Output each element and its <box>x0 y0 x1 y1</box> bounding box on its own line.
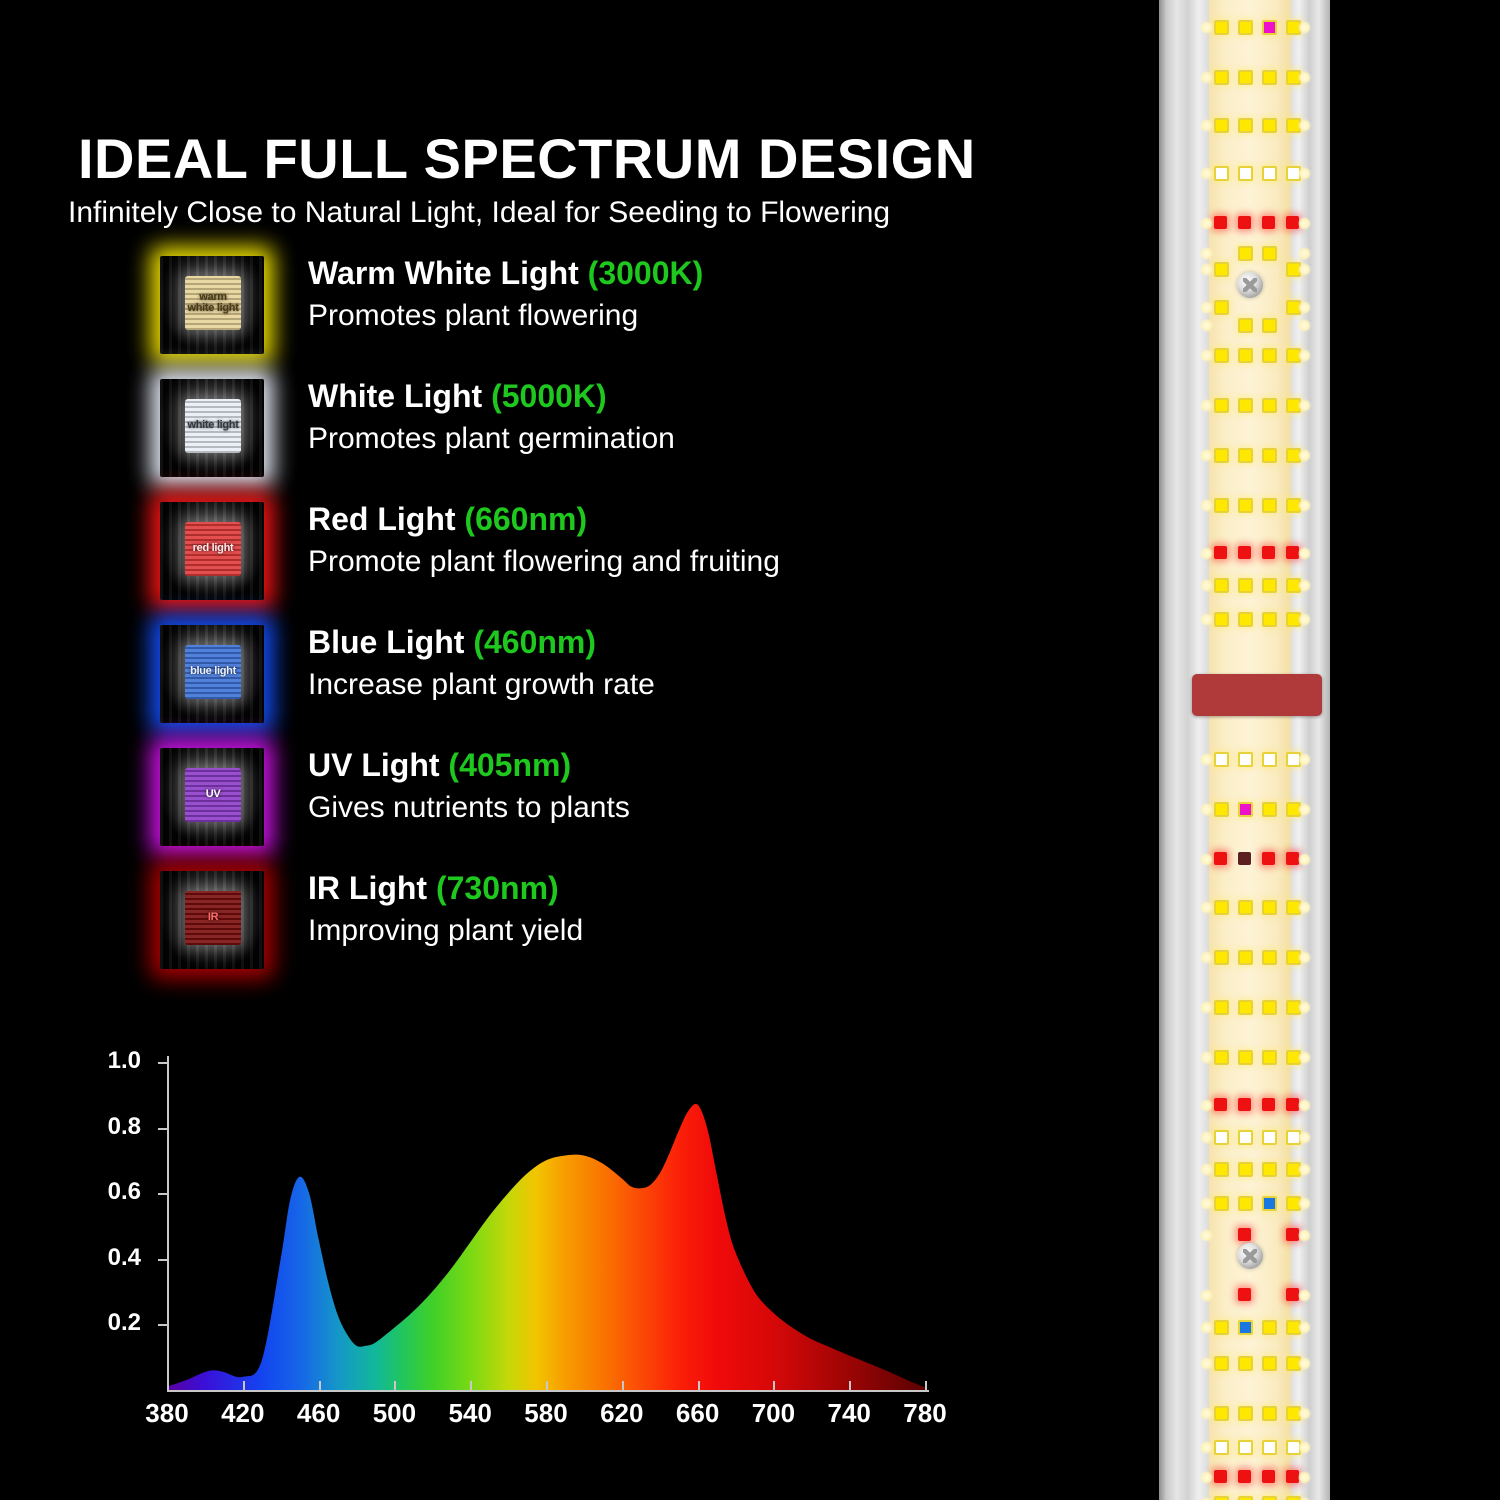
x-tick <box>546 1381 548 1390</box>
feature-text: Warm White Light (3000K)Promotes plant f… <box>308 252 703 338</box>
led-diode <box>1238 1496 1253 1500</box>
chip-die: IR <box>185 891 241 946</box>
edge-light-glow <box>1200 1229 1213 1242</box>
led-diode <box>1214 20 1229 35</box>
feature-text: IR Light (730nm)Improving plant yield <box>308 867 583 953</box>
edge-light-glow <box>1298 901 1311 914</box>
power-connector <box>1192 674 1322 716</box>
led-diode <box>1214 1196 1229 1211</box>
led-diode <box>1214 900 1229 915</box>
led-diode <box>1262 1356 1277 1371</box>
led-diode <box>1238 118 1253 133</box>
led-diode <box>1238 398 1253 413</box>
feature-name-label: Blue Light <box>308 624 464 660</box>
led-diode <box>1238 70 1253 85</box>
x-axis-tick-label: 660 <box>676 1398 719 1429</box>
led-diode <box>1238 498 1253 513</box>
led-diode <box>1214 1162 1229 1177</box>
edge-light-glow <box>1200 349 1213 362</box>
x-tick <box>622 1381 624 1390</box>
edge-light-glow <box>1298 853 1311 866</box>
y-axis <box>167 1056 169 1392</box>
chip-body: red light <box>160 502 264 600</box>
led-diode <box>1214 166 1229 181</box>
edge-light-glow <box>1200 247 1213 260</box>
edge-light-glow <box>1200 901 1213 914</box>
led-diode <box>1262 612 1277 627</box>
edge-light-glow <box>1200 1131 1213 1144</box>
uv-led-chip-icon: UV <box>160 748 264 846</box>
edge-light-glow <box>1298 1131 1311 1144</box>
edge-light-glow <box>1200 499 1213 512</box>
led-diode <box>1262 1050 1277 1065</box>
edge-light-glow <box>1298 1441 1311 1454</box>
edge-light-glow <box>1298 1357 1311 1370</box>
edge-light-glow <box>1298 1163 1311 1176</box>
led-diode <box>1262 348 1277 363</box>
led-diode <box>1262 166 1277 181</box>
chip-die-label: warm white light <box>185 292 241 314</box>
edge-light-glow <box>1298 613 1311 626</box>
x-axis-tick-label: 500 <box>373 1398 416 1429</box>
edge-light-glow <box>1200 1471 1213 1484</box>
chip-body: IR <box>160 871 264 969</box>
y-tick <box>158 1259 167 1261</box>
x-axis-tick-label: 540 <box>448 1398 491 1429</box>
x-tick <box>167 1381 169 1390</box>
edge-light-glow <box>1298 951 1311 964</box>
led-diode <box>1214 262 1229 277</box>
feature-name: Red Light (660nm) <box>308 498 780 540</box>
feature-row: red lightRed Light (660nm)Promote plant … <box>0 498 1120 621</box>
x-axis-tick-label: 460 <box>297 1398 340 1429</box>
led-diode <box>1238 1440 1253 1455</box>
y-tick <box>158 1128 167 1130</box>
feature-spec-value: (5000K) <box>491 378 607 414</box>
led-diode <box>1238 1050 1253 1065</box>
led-diode <box>1238 802 1253 817</box>
edge-light-glow <box>1200 753 1213 766</box>
led-diode <box>1214 398 1229 413</box>
feature-text: Red Light (660nm)Promote plant flowering… <box>308 498 780 584</box>
led-diode <box>1238 1470 1251 1483</box>
edge-light-glow <box>1200 167 1213 180</box>
led-diode <box>1238 752 1253 767</box>
x-axis-tick-label: 620 <box>600 1398 643 1429</box>
led-diode <box>1262 1496 1277 1500</box>
y-axis-tick-label: 1.0 <box>81 1047 141 1075</box>
y-axis-tick-label: 0.4 <box>81 1244 141 1272</box>
led-diode <box>1238 246 1253 261</box>
led-diode <box>1262 1406 1277 1421</box>
feature-row: UVUV Light (405nm)Gives nutrients to pla… <box>0 744 1120 867</box>
feature-name-label: White Light <box>308 378 482 414</box>
led-diode <box>1214 1098 1227 1111</box>
edge-light-glow <box>1200 1357 1213 1370</box>
x-tick <box>773 1381 775 1390</box>
led-diode <box>1214 70 1229 85</box>
led-diode <box>1262 498 1277 513</box>
led-diode <box>1214 612 1229 627</box>
led-diode <box>1214 1000 1229 1015</box>
edge-light-glow <box>1200 217 1213 230</box>
mounting-screw <box>1237 1243 1263 1269</box>
led-diode <box>1238 612 1253 627</box>
feature-description: Promote plant flowering and fruiting <box>308 540 780 584</box>
led-diode <box>1262 852 1275 865</box>
x-axis-tick-label: 420 <box>221 1398 264 1429</box>
edge-light-glow <box>1200 119 1213 132</box>
led-diode <box>1262 1162 1277 1177</box>
feature-row: blue lightBlue Light (460nm)Increase pla… <box>0 621 1120 744</box>
feature-text: Blue Light (460nm)Increase plant growth … <box>308 621 655 707</box>
led-diode <box>1238 20 1253 35</box>
edge-light-glow <box>1200 613 1213 626</box>
x-tick <box>925 1381 927 1390</box>
led-diode <box>1214 216 1227 229</box>
edge-light-glow <box>1298 547 1311 560</box>
edge-light-glow <box>1298 319 1311 332</box>
feature-name: IR Light (730nm) <box>308 867 583 909</box>
chip-die-label: blue light <box>190 666 236 677</box>
led-diode <box>1214 802 1229 817</box>
led-diode <box>1262 70 1277 85</box>
led-grow-light-bar <box>1152 0 1328 1500</box>
led-diode <box>1262 546 1275 559</box>
page-subtitle: Infinitely Close to Natural Light, Ideal… <box>68 196 890 230</box>
led-diode <box>1262 1000 1277 1015</box>
feature-name: White Light (5000K) <box>308 375 675 417</box>
edge-light-glow <box>1298 1407 1311 1420</box>
feature-description: Increase plant growth rate <box>308 663 655 707</box>
y-tick <box>158 1062 167 1064</box>
edge-light-glow <box>1298 449 1311 462</box>
led-diode <box>1262 448 1277 463</box>
edge-light-glow <box>1298 499 1311 512</box>
led-diode <box>1214 1320 1229 1335</box>
led-diode <box>1214 1130 1229 1145</box>
led-diode <box>1214 852 1227 865</box>
x-tick <box>698 1381 700 1390</box>
edge-light-glow <box>1200 1163 1213 1176</box>
feature-list: warm white lightWarm White Light (3000K)… <box>0 252 1120 990</box>
led-diode <box>1214 118 1229 133</box>
x-tick <box>470 1381 472 1390</box>
feature-spec-value: (730nm) <box>436 870 559 906</box>
edge-light-glow <box>1200 1099 1213 1112</box>
blue-led-chip-icon: blue light <box>160 625 264 723</box>
led-diode <box>1238 1320 1253 1335</box>
y-tick <box>158 1193 167 1195</box>
feature-name: UV Light (405nm) <box>308 744 630 786</box>
led-diode <box>1238 216 1251 229</box>
y-axis-tick-label: 0.6 <box>81 1178 141 1206</box>
led-diode <box>1262 118 1277 133</box>
chip-die-label: red light <box>193 543 234 554</box>
y-axis-tick-label: 0.8 <box>81 1113 141 1141</box>
feature-text: UV Light (405nm)Gives nutrients to plant… <box>308 744 630 830</box>
led-diode <box>1214 498 1229 513</box>
led-diode <box>1262 752 1277 767</box>
feature-name-label: IR Light <box>308 870 427 906</box>
led-diode <box>1262 1470 1275 1483</box>
edge-light-glow <box>1298 1051 1311 1064</box>
chip-die-label: IR <box>208 912 218 923</box>
led-diode <box>1262 1098 1275 1111</box>
edge-light-glow <box>1200 1197 1213 1210</box>
chip-body: warm white light <box>160 256 264 354</box>
edge-light-glow <box>1200 263 1213 276</box>
led-diode <box>1238 448 1253 463</box>
led-diode <box>1238 1288 1251 1301</box>
led-diode <box>1214 752 1229 767</box>
y-tick <box>158 1324 167 1326</box>
edge-light-glow <box>1298 1471 1311 1484</box>
led-diode <box>1262 20 1277 35</box>
x-tick <box>394 1381 396 1390</box>
edge-light-glow <box>1298 301 1311 314</box>
x-axis-tick-label: 580 <box>524 1398 567 1429</box>
edge-light-glow <box>1298 1001 1311 1014</box>
feature-spec-value: (660nm) <box>464 501 587 537</box>
x-axis-tick-label: 740 <box>827 1398 870 1429</box>
edge-light-glow <box>1200 449 1213 462</box>
feature-name: Warm White Light (3000K) <box>308 252 703 294</box>
led-diode <box>1214 1496 1229 1500</box>
led-diode <box>1238 852 1251 865</box>
edge-light-glow <box>1298 167 1311 180</box>
feature-name: Blue Light (460nm) <box>308 621 655 663</box>
led-diode <box>1262 1196 1277 1211</box>
led-diode <box>1238 900 1253 915</box>
edge-light-glow <box>1298 1289 1311 1302</box>
led-diode <box>1262 246 1277 261</box>
chip-body: white light <box>160 379 264 477</box>
edge-light-glow <box>1200 1441 1213 1454</box>
edge-light-glow <box>1200 803 1213 816</box>
x-tick <box>319 1381 321 1390</box>
edge-light-glow <box>1298 217 1311 230</box>
led-diode <box>1214 1406 1229 1421</box>
chip-die: blue light <box>185 645 241 700</box>
led-diode <box>1214 448 1229 463</box>
feature-spec-value: (405nm) <box>448 747 571 783</box>
feature-row: IRIR Light (730nm)Improving plant yield <box>0 867 1120 990</box>
feature-row: warm white lightWarm White Light (3000K)… <box>0 252 1120 375</box>
edge-light-glow <box>1200 301 1213 314</box>
edge-light-glow <box>1200 547 1213 560</box>
led-diode <box>1238 1000 1253 1015</box>
edge-light-glow <box>1298 119 1311 132</box>
mounting-screw <box>1237 272 1263 298</box>
led-diode <box>1238 578 1253 593</box>
led-diode <box>1238 348 1253 363</box>
feature-name-label: Warm White Light <box>308 255 579 291</box>
feature-name-label: UV Light <box>308 747 440 783</box>
page-title: IDEAL FULL SPECTRUM DESIGN <box>78 126 976 191</box>
feature-description: Promotes plant germination <box>308 417 675 461</box>
led-diode <box>1262 802 1277 817</box>
led-diode <box>1214 950 1229 965</box>
edge-light-glow <box>1200 1289 1213 1302</box>
led-diode <box>1238 1228 1251 1241</box>
edge-light-glow <box>1298 349 1311 362</box>
x-axis-tick-label: 700 <box>752 1398 795 1429</box>
edge-light-glow <box>1298 71 1311 84</box>
led-diode <box>1238 318 1253 333</box>
x-axis <box>167 1390 929 1392</box>
led-diode <box>1214 546 1227 559</box>
edge-light-glow <box>1298 399 1311 412</box>
edge-light-glow <box>1200 1001 1213 1014</box>
x-tick <box>849 1381 851 1390</box>
chip-die: warm white light <box>185 276 241 331</box>
edge-light-glow <box>1298 263 1311 276</box>
spectrum-area <box>167 1104 925 1390</box>
feature-spec-value: (3000K) <box>588 255 704 291</box>
chip-die: UV <box>185 768 241 823</box>
y-axis-tick-label: 0.2 <box>81 1309 141 1337</box>
edge-light-glow <box>1200 319 1213 332</box>
led-diode <box>1262 1130 1277 1145</box>
edge-light-glow <box>1298 247 1311 260</box>
edge-light-glow <box>1298 753 1311 766</box>
chip-body: blue light <box>160 625 264 723</box>
led-diode <box>1238 166 1253 181</box>
edge-light-glow <box>1298 1229 1311 1242</box>
edge-light-glow <box>1200 1321 1213 1334</box>
feature-spec-value: (460nm) <box>473 624 596 660</box>
chip-die: white light <box>185 399 241 454</box>
led-diode <box>1214 578 1229 593</box>
led-diode <box>1262 900 1277 915</box>
edge-light-glow <box>1200 1051 1213 1064</box>
led-diode <box>1238 1406 1253 1421</box>
led-diode <box>1214 1050 1229 1065</box>
led-diode <box>1214 1356 1229 1371</box>
led-diode <box>1238 546 1251 559</box>
edge-light-glow <box>1200 579 1213 592</box>
led-diode <box>1262 216 1275 229</box>
led-diode <box>1262 1320 1277 1335</box>
led-diode <box>1238 950 1253 965</box>
feature-description: Promotes plant flowering <box>308 294 703 338</box>
chip-body: UV <box>160 748 264 846</box>
edge-light-glow <box>1200 399 1213 412</box>
led-diode <box>1262 1440 1277 1455</box>
ir-led-chip-icon: IR <box>160 871 264 969</box>
led-diode <box>1262 398 1277 413</box>
edge-light-glow <box>1298 579 1311 592</box>
feature-text: White Light (5000K)Promotes plant germin… <box>308 375 675 461</box>
warm-white-led-chip-icon: warm white light <box>160 256 264 354</box>
edge-light-glow <box>1298 1099 1311 1112</box>
chip-die-label: UV <box>206 789 221 800</box>
x-axis-tick-label: 780 <box>903 1398 946 1429</box>
x-axis-tick-label: 380 <box>145 1398 188 1429</box>
led-diode <box>1214 348 1229 363</box>
led-diode <box>1238 1162 1253 1177</box>
feature-description: Gives nutrients to plants <box>308 786 630 830</box>
feature-name-label: Red Light <box>308 501 456 537</box>
edge-light-glow <box>1298 21 1311 34</box>
edge-light-glow <box>1298 803 1311 816</box>
x-tick <box>243 1381 245 1390</box>
led-diode <box>1262 950 1277 965</box>
edge-light-glow <box>1200 71 1213 84</box>
led-diode <box>1214 300 1229 315</box>
chip-die: red light <box>185 522 241 577</box>
feature-row: white lightWhite Light (5000K)Promotes p… <box>0 375 1120 498</box>
led-diode <box>1238 1098 1251 1111</box>
edge-light-glow <box>1200 1407 1213 1420</box>
edge-light-glow <box>1298 1321 1311 1334</box>
led-diode <box>1262 318 1277 333</box>
edge-light-glow <box>1200 853 1213 866</box>
white-led-chip-icon: white light <box>160 379 264 477</box>
feature-description: Improving plant yield <box>308 909 583 953</box>
edge-light-glow <box>1200 21 1213 34</box>
led-diode <box>1262 578 1277 593</box>
spectrum-chart <box>0 1040 1000 1440</box>
led-diode <box>1238 1356 1253 1371</box>
infographic-root: IDEAL FULL SPECTRUM DESIGN Infinitely Cl… <box>0 0 1500 1500</box>
led-diode <box>1214 1440 1229 1455</box>
led-diode <box>1238 1130 1253 1145</box>
red-led-chip-icon: red light <box>160 502 264 600</box>
spectrum-plot <box>0 1040 1000 1440</box>
edge-light-glow <box>1298 1197 1311 1210</box>
led-diode <box>1238 1196 1253 1211</box>
edge-light-glow <box>1200 951 1213 964</box>
led-diode <box>1214 1470 1227 1483</box>
chip-die-label: white light <box>187 420 238 431</box>
